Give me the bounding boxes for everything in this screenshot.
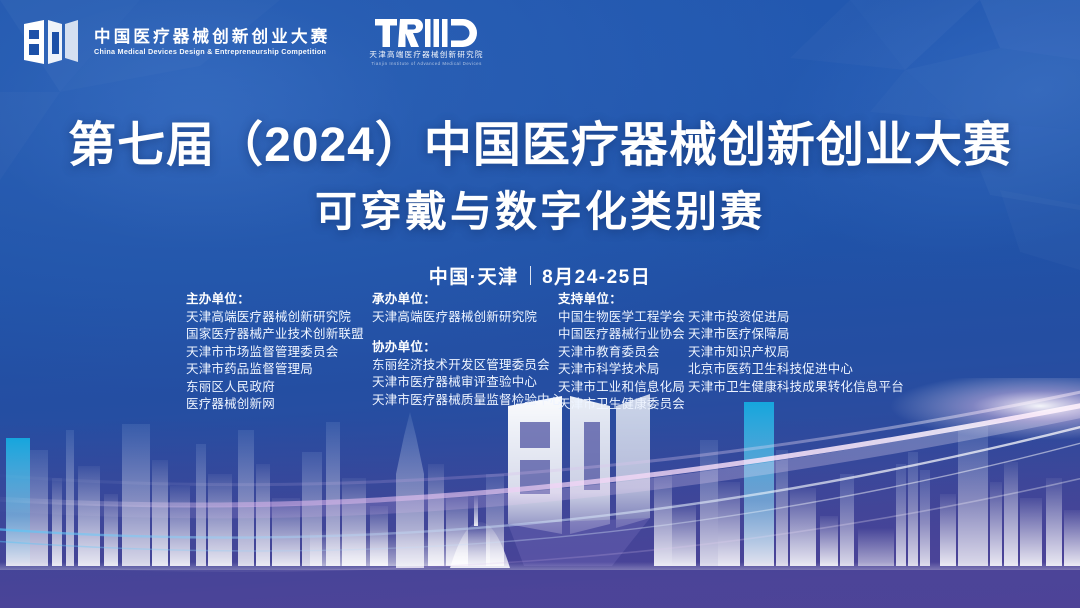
org-item: 东丽经济技术开发区管理委员会 bbox=[372, 357, 558, 375]
trimd-name-en: Tianjin Institute of Advanced Medical De… bbox=[371, 62, 481, 66]
main-title-line1: 第七届（2024）中国医疗器械创新创业大赛 bbox=[0, 118, 1080, 175]
event-date: 8月24-25日 bbox=[542, 262, 651, 289]
org-item: 天津市投资促进局 bbox=[688, 309, 904, 327]
org-item: 东丽区人民政府 bbox=[186, 379, 372, 397]
org-item: 天津市工业和信息化局 bbox=[558, 379, 688, 397]
header-logos: 中国医疗器械创新创业大赛 China Medical Devices Desig… bbox=[22, 18, 484, 66]
org-group: 天津市投资促进局 天津市医疗保障局 天津市知识产权局 北京市医药卫生科技促进中心… bbox=[688, 291, 904, 396]
org-item: 国家医疗器械产业技术创新联盟 bbox=[186, 326, 372, 344]
org-item: 天津市医疗器械审评查验中心 bbox=[372, 374, 558, 392]
column-offset-spacer bbox=[688, 291, 904, 309]
cmd-title-cn: 中国医疗器械创新创业大赛 bbox=[94, 29, 330, 46]
org-item: 中国医疗器械行业协会 bbox=[558, 326, 688, 344]
poster-canvas: 中国医疗器械创新创业大赛 China Medical Devices Desig… bbox=[0, 0, 1080, 608]
trimd-logo: 天津高端医疗器械创新研究院 Tianjin Institute of Advan… bbox=[369, 18, 483, 66]
org-column-organizers: 主办单位： 天津高端医疗器械创新研究院 国家医疗器械产业技术创新联盟 天津市市场… bbox=[186, 291, 372, 414]
bottom-purple-haze bbox=[0, 418, 1080, 608]
org-item: 天津市科学技术局 bbox=[558, 361, 688, 379]
org-group-heading: 协办单位： bbox=[372, 339, 558, 357]
org-item: 天津市教育委员会 bbox=[558, 344, 688, 362]
trimd-wordmark-icon bbox=[375, 18, 479, 48]
org-item: 天津高端医疗器械创新研究院 bbox=[372, 309, 558, 327]
org-item: 天津市医疗保障局 bbox=[688, 326, 904, 344]
org-column-supporters-b: 天津市投资促进局 天津市医疗保障局 天津市知识产权局 北京市医药卫生科技促进中心… bbox=[688, 291, 904, 414]
org-group: 协办单位： 东丽经济技术开发区管理委员会 天津市医疗器械审评查验中心 天津市医疗… bbox=[372, 339, 558, 409]
org-item: 天津市医疗器械质量监督检验中心 bbox=[372, 392, 558, 410]
org-item: 天津市卫生健康委员会 bbox=[558, 396, 688, 414]
org-item: 医疗器械创新网 bbox=[186, 396, 372, 414]
trimd-name-cn: 天津高端医疗器械创新研究院 bbox=[369, 51, 483, 59]
org-column-supporters-a: 支持单位： 中国生物医学工程学会 中国医疗器械行业协会 天津市教育委员会 天津市… bbox=[558, 291, 688, 414]
org-group: 支持单位： 中国生物医学工程学会 中国医疗器械行业协会 天津市教育委员会 天津市… bbox=[558, 291, 688, 414]
main-title-line2: 可穿戴与数字化类别赛 bbox=[0, 187, 1080, 237]
org-group: 主办单位： 天津高端医疗器械创新研究院 国家医疗器械产业技术创新联盟 天津市市场… bbox=[186, 291, 372, 414]
org-item: 天津高端医疗器械创新研究院 bbox=[186, 309, 372, 327]
org-item: 天津市药品监督管理局 bbox=[186, 361, 372, 379]
title-block: 第七届（2024）中国医疗器械创新创业大赛 可穿戴与数字化类别赛 中国·天津 8… bbox=[0, 118, 1080, 289]
org-item: 天津市市场监督管理委员会 bbox=[186, 344, 372, 362]
org-item: 中国生物医学工程学会 bbox=[558, 309, 688, 327]
cmd-title-en: China Medical Devices Design & Entrepren… bbox=[94, 48, 328, 55]
org-group-heading: 承办单位： bbox=[372, 291, 558, 309]
cmd-logo-text: 中国医疗器械创新创业大赛 China Medical Devices Desig… bbox=[94, 29, 330, 55]
org-item: 天津市知识产权局 bbox=[688, 344, 904, 362]
organizations-block: 主办单位： 天津高端医疗器械创新研究院 国家医疗器械产业技术创新联盟 天津市市场… bbox=[186, 291, 904, 414]
org-item: 天津市卫生健康科技成果转化信息平台 bbox=[688, 379, 904, 397]
event-location: 中国·天津 bbox=[429, 262, 519, 289]
logo-divider bbox=[346, 22, 347, 62]
org-group-heading: 主办单位： bbox=[186, 291, 372, 309]
subtitle-divider bbox=[530, 266, 532, 285]
org-item: 北京市医药卫生科技促进中心 bbox=[688, 361, 904, 379]
org-group-heading: 支持单位： bbox=[558, 291, 688, 309]
org-group: 承办单位： 天津高端医疗器械创新研究院 bbox=[372, 291, 558, 326]
event-subtitle: 中国·天津 8月24-25日 bbox=[0, 262, 1080, 289]
gate-door-emblem-icon bbox=[22, 18, 80, 66]
org-column-hosts: 承办单位： 天津高端医疗器械创新研究院 协办单位： 东丽经济技术开发区管理委员会… bbox=[372, 291, 558, 414]
